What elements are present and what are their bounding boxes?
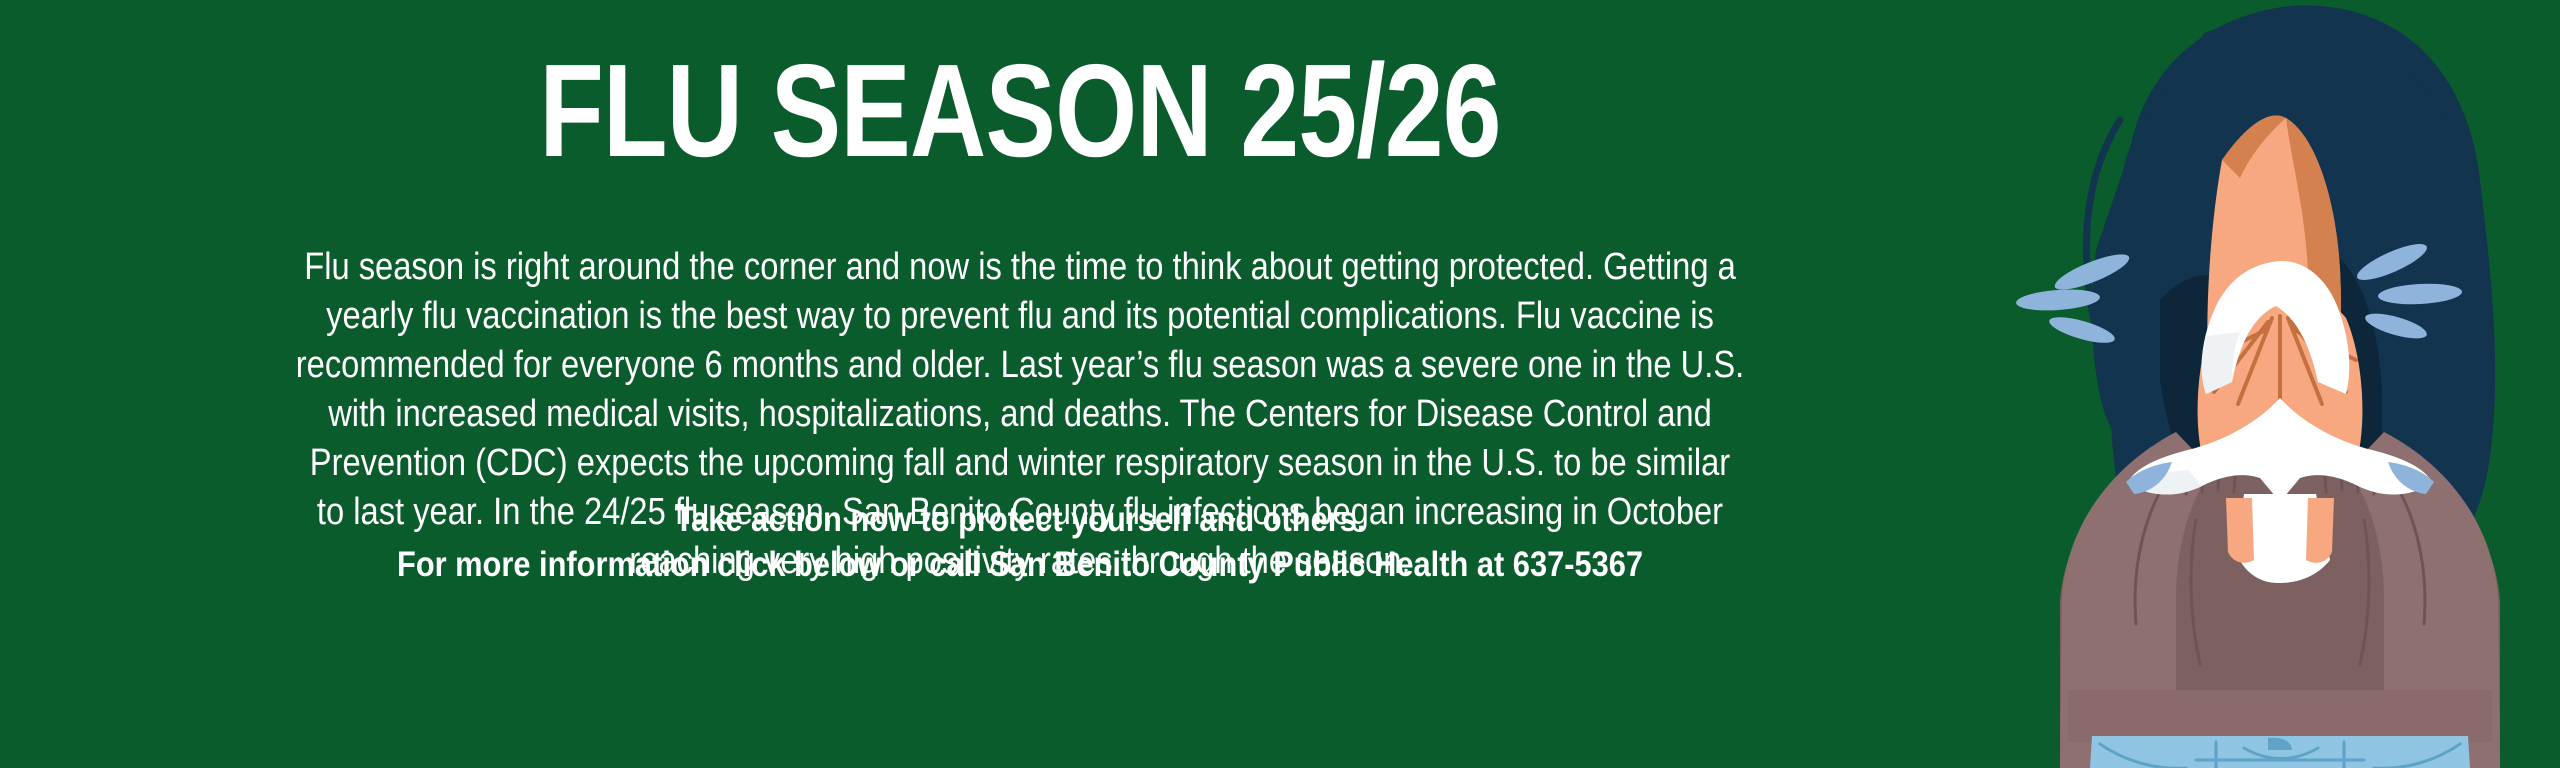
thumb-left: [2226, 498, 2254, 563]
thumb-right: [2306, 498, 2334, 563]
cta-line-take-action: Take action now to protect yourself and …: [276, 497, 1763, 542]
cta-line-more-information: For more information click below or call…: [276, 542, 1763, 587]
banner-text-column: FLU SEASON 25/26 Flu season is right aro…: [0, 0, 2040, 768]
page-title: FLU SEASON 25/26: [204, 36, 1836, 186]
sweater-hem-band: [2068, 690, 2492, 742]
woman-sneezing-illustration: [2000, 0, 2560, 768]
flu-season-banner: FLU SEASON 25/26 Flu season is right aro…: [0, 0, 2560, 768]
call-to-action-block: Take action now to protect yourself and …: [276, 497, 1763, 587]
